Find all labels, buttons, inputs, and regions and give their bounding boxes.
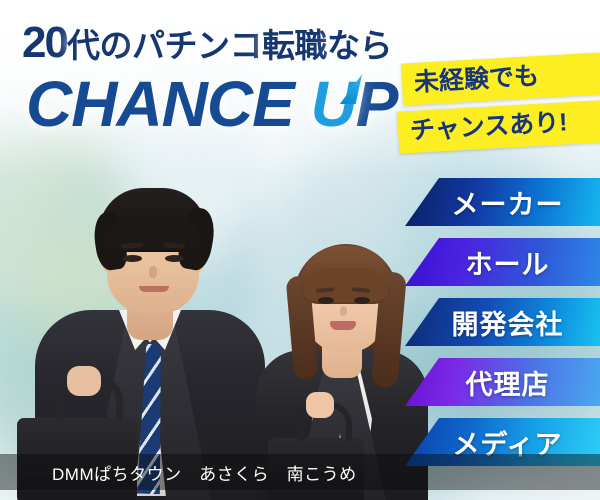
man-nose [149, 266, 157, 278]
category-item-agency[interactable]: 代理店 [405, 358, 600, 406]
woman-hand [306, 392, 334, 418]
headline-katakana: パチンコ [132, 27, 262, 64]
logo-letter-u: U [311, 72, 356, 136]
people-photo [0, 140, 420, 500]
woman-hair-fringe [304, 268, 388, 302]
category-label: メーカー [442, 183, 564, 222]
advertising-banner[interactable]: 20代のパチンコ転職なら CHANCE UP 未経験でも チャンスあり! メーカ… [0, 0, 600, 500]
category-item-developer[interactable]: 開発会社 [405, 298, 600, 346]
headline-mid: 代の [67, 27, 132, 64]
headline-tail: なら [327, 27, 392, 64]
headline-text: 20代のパチンコ転職なら [22, 18, 392, 68]
woman-mouth [330, 321, 356, 330]
category-item-hall[interactable]: ホール [405, 238, 600, 286]
man-hand [67, 366, 101, 396]
chance-up-logotype: CHANCE UP [26, 72, 397, 136]
promo-badge-line-1: 未経験でも [401, 52, 600, 105]
woman-eye-left [318, 297, 334, 304]
promo-badge: 未経験でも チャンスあり! [398, 58, 600, 148]
headline-kanji: 転職 [262, 27, 327, 64]
category-label: 開発会社 [442, 303, 564, 342]
man-hair-fringe [103, 218, 203, 250]
caption-band: DMMぱちタウン あさくら 南こうめ [0, 454, 600, 490]
promo-badge-line-2: チャンスあり! [397, 100, 600, 153]
headline-number: 20 [22, 18, 67, 67]
caption-text: DMMぱちタウン あさくら 南こうめ [0, 460, 357, 485]
man-eye-left [123, 255, 142, 262]
logo-letter-p: P [356, 68, 398, 140]
category-list: メーカー ホール 開発会社 代理店 メディア [405, 178, 600, 478]
man-eye-right [165, 255, 184, 262]
category-label: 代理店 [456, 363, 550, 402]
woman-nose [340, 306, 347, 316]
man-mouth [139, 286, 169, 292]
logo-word-chance: CHANCE [26, 68, 294, 140]
category-label: ホール [456, 243, 550, 282]
woman-eye-right [354, 297, 370, 304]
category-item-maker[interactable]: メーカー [405, 178, 600, 226]
businessman-figure [35, 145, 265, 500]
